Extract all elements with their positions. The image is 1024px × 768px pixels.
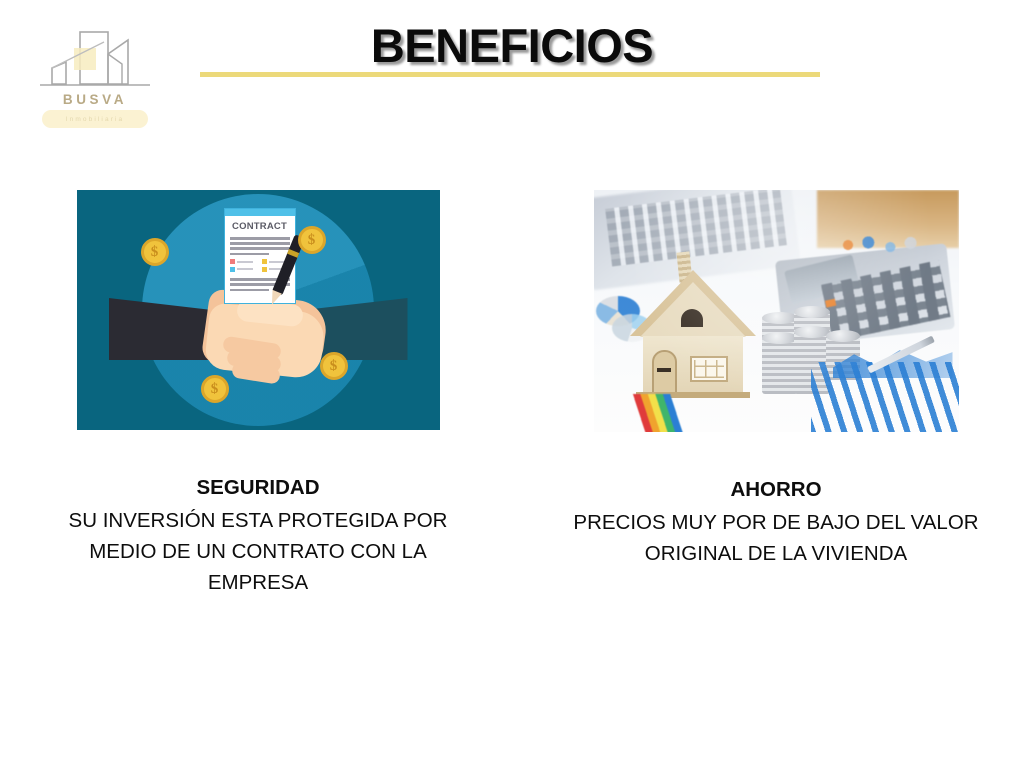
document-checkbox-row	[230, 259, 258, 264]
benefit-body: PRECIOS MUY POR DE BAJO DEL VALOR ORIGIN…	[561, 507, 991, 569]
benefit-column-ahorro: AHORRO PRECIOS MUY POR DE BAJO DEL VALOR…	[561, 190, 991, 569]
photo-scene	[594, 190, 959, 432]
swatch-line	[237, 268, 253, 270]
benefit-caption: SEGURIDAD SU INVERSIÓN ESTA PROTEGIDA PO…	[43, 472, 473, 598]
contract-document: CONTRACT	[224, 208, 296, 304]
house-model-coins-calculator-photo	[594, 190, 959, 432]
coin-top	[762, 332, 798, 344]
house-door	[652, 350, 677, 394]
bar-chart-graphic	[811, 362, 959, 432]
document-line	[230, 289, 270, 292]
benefit-column-seguridad: CONTRACT	[43, 190, 473, 598]
house-door-handle	[657, 368, 671, 372]
coin-top	[794, 306, 830, 318]
dollar-coin-icon: $	[141, 238, 169, 266]
document-checkbox-row	[230, 267, 258, 272]
document-header-bar	[225, 209, 295, 216]
pen-band	[287, 249, 299, 258]
chart-dots-graphic	[837, 232, 929, 258]
benefit-body: SU INVERSIÓN ESTA PROTEGIDA POR MEDIO DE…	[43, 505, 473, 598]
document-line	[230, 242, 290, 245]
logo-wordmark: BUSVA	[36, 92, 154, 107]
logo-subtitle-band: Inmobiliaria	[42, 110, 148, 128]
logo-subtitle: Inmobiliaria	[66, 116, 124, 123]
title-underline-rule	[200, 72, 820, 77]
coin-top	[826, 330, 860, 342]
swatch-line	[269, 261, 285, 263]
house-gable-window	[678, 306, 706, 330]
document-line	[230, 237, 290, 240]
house-window	[690, 356, 728, 382]
dollar-coin-icon: $	[320, 352, 348, 380]
handshake-contract-illustration: CONTRACT	[77, 190, 440, 430]
document-text-lines	[230, 237, 290, 255]
swatch	[262, 267, 267, 272]
swatch	[230, 267, 235, 272]
benefit-heading: SEGURIDAD	[43, 472, 473, 503]
document-line	[230, 253, 270, 256]
coin-top	[762, 312, 798, 324]
coin-stack	[762, 338, 798, 394]
swatch-line	[237, 261, 253, 263]
dollar-coin-icon: $	[201, 375, 229, 403]
house-window-grid	[694, 360, 724, 378]
swatch	[230, 259, 235, 264]
dollar-coin-icon: $	[298, 226, 326, 254]
document-line	[230, 247, 290, 250]
page-title: BENEFICIOS	[0, 18, 1024, 73]
document-checkbox-column	[230, 259, 258, 274]
benefit-caption: AHORRO PRECIOS MUY POR DE BAJO DEL VALOR…	[561, 474, 991, 569]
rainbow-chart-graphic	[594, 394, 700, 432]
swatch	[262, 259, 267, 264]
wooden-house-model-icon	[630, 252, 756, 392]
benefit-heading: AHORRO	[561, 474, 991, 505]
contract-document-title: CONTRACT	[225, 221, 295, 232]
coin-top	[794, 326, 830, 338]
